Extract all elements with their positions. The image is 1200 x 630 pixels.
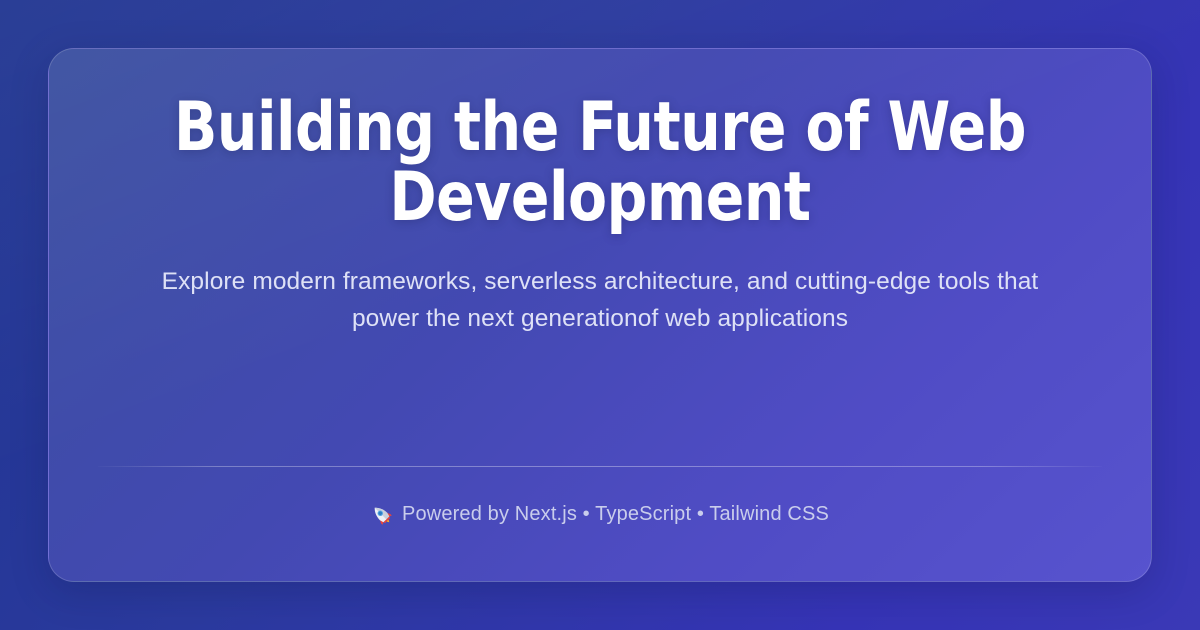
- page-title: Building the Future of Web Development: [88, 93, 1113, 233]
- page-subtitle: Explore modern frameworks, serverless ar…: [49, 263, 1151, 337]
- og-image-canvas: Building the Future of Web Development E…: [0, 0, 1200, 630]
- card-content: Building the Future of Web Development E…: [49, 49, 1151, 581]
- card-footer: Powered by Next.js • TypeScript • Tailwi…: [49, 501, 1151, 527]
- divider: [98, 466, 1102, 467]
- footer-label: Powered by Next.js • TypeScript • Tailwi…: [402, 501, 829, 527]
- share-card: Building the Future of Web Development E…: [48, 48, 1152, 582]
- rocket-icon: [371, 504, 393, 526]
